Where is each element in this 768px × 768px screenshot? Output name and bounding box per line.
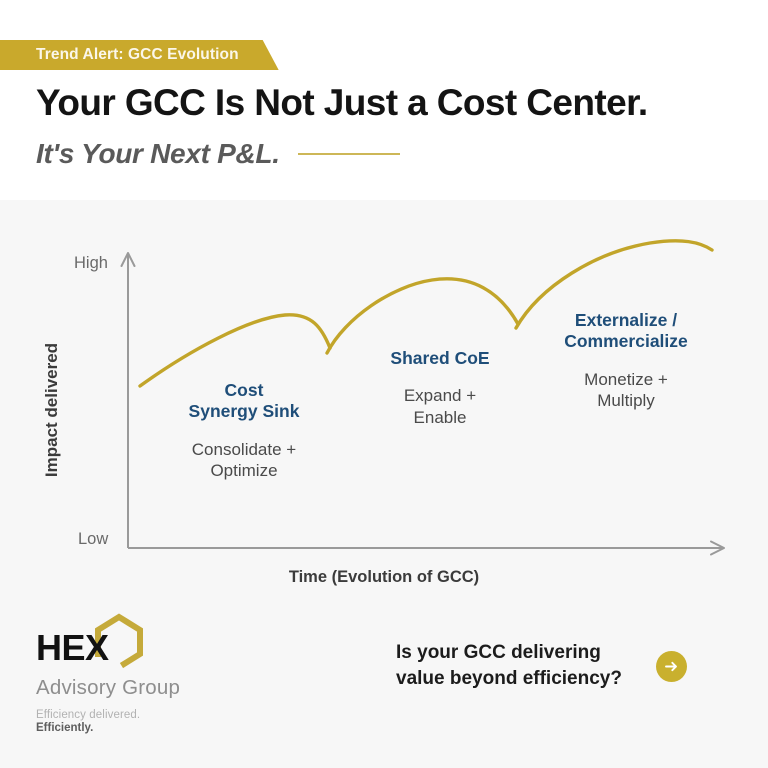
trend-alert-banner: Trend Alert: GCC Evolution bbox=[0, 40, 279, 70]
cta-question: Is your GCC delivering value beyond effi… bbox=[396, 640, 622, 692]
stage-description: Expand + Enable bbox=[355, 385, 525, 428]
curve-segment-shared-coe bbox=[327, 279, 518, 353]
y-axis-tick-high: High bbox=[74, 254, 108, 273]
stage-shared-coe: Shared CoE Expand + Enable bbox=[355, 348, 525, 428]
stage-description: Consolidate + Optimize bbox=[158, 439, 330, 482]
trend-alert-label: Trend Alert: GCC Evolution bbox=[36, 46, 239, 64]
brand-logo: HEX Advisory Group Efficiency delivered.… bbox=[36, 612, 226, 734]
subtitle-rule bbox=[298, 153, 400, 155]
logo-tagline-line2: Efficiently. bbox=[36, 722, 226, 734]
logo-tagline-line1: Efficiency delivered. bbox=[36, 709, 226, 721]
arrow-right-icon bbox=[663, 658, 680, 675]
stage-cost-synergy-sink: Cost Synergy Sink Consolidate + Optimize bbox=[158, 380, 330, 481]
cta-arrow-button[interactable] bbox=[656, 651, 687, 682]
subtitle-row: It's Your Next P&L. bbox=[36, 138, 400, 170]
stage-externalize-commercialize: Externalize / Commercialize Monetize + M… bbox=[530, 310, 722, 411]
cta-block: Is your GCC delivering value beyond effi… bbox=[396, 640, 687, 692]
logo-subtitle: Advisory Group bbox=[36, 676, 226, 700]
stage-title: Cost Synergy Sink bbox=[158, 380, 330, 423]
logo-mark: HEX bbox=[36, 612, 226, 678]
stage-description: Monetize + Multiply bbox=[530, 369, 722, 412]
header-section: Trend Alert: GCC Evolution Your GCC Is N… bbox=[0, 0, 768, 200]
logo-wordmark: HEX bbox=[36, 630, 109, 666]
y-axis-label: Impact delivered bbox=[42, 320, 62, 500]
stage-title: Externalize / Commercialize bbox=[530, 310, 722, 353]
footer-section: HEX Advisory Group Efficiency delivered.… bbox=[0, 612, 768, 768]
y-axis-tick-low: Low bbox=[78, 530, 108, 549]
page-subtitle: It's Your Next P&L. bbox=[36, 138, 280, 170]
page-title: Your GCC Is Not Just a Cost Center. bbox=[36, 82, 648, 124]
stage-title: Shared CoE bbox=[355, 348, 525, 369]
curve-segment-cost-synergy-sink bbox=[140, 315, 330, 386]
x-axis-label: Time (Evolution of GCC) bbox=[0, 568, 768, 587]
